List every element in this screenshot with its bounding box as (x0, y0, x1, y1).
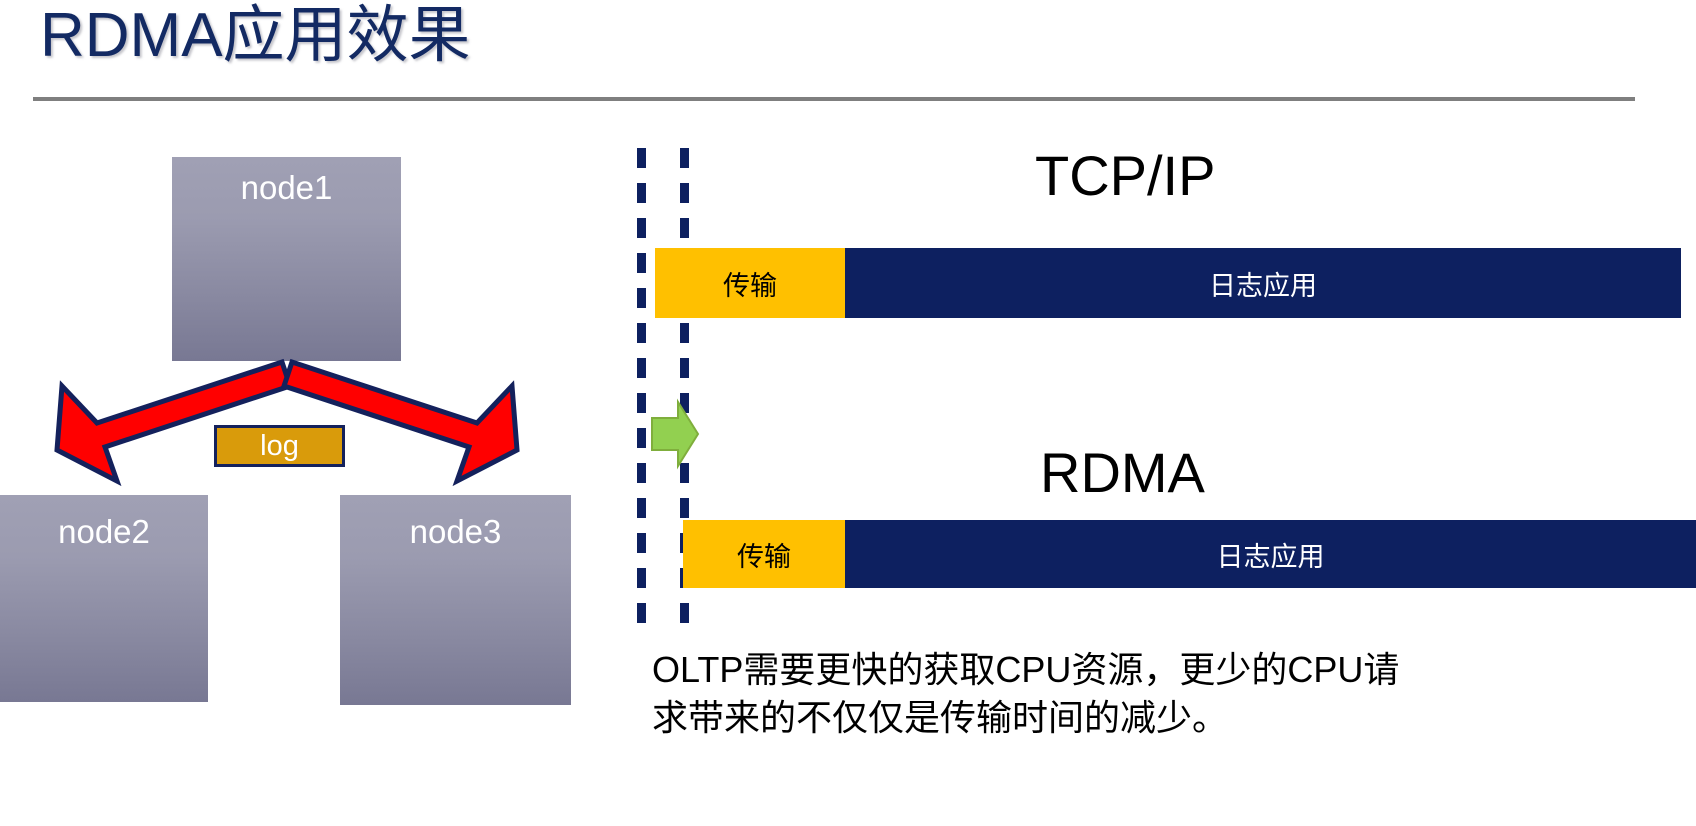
rdma-apply-label: 日志应用 (1217, 535, 1325, 574)
rdma-section-title: RDMA (1040, 440, 1205, 505)
rdma-timeline-bar: 传输 日志应用 (683, 520, 1696, 588)
improvement-arrow-icon (648, 398, 700, 470)
tcp-timeline-bar: 传输 日志应用 (655, 248, 1681, 318)
guideline-start-icon (637, 148, 646, 630)
tcp-transfer-label: 传输 (723, 264, 777, 303)
comparison-panel: TCP/IP 传输 日志应用 RDMA 传输 日志应用 OLTP需要更快的获取C… (0, 0, 1696, 826)
footnote-text: OLTP需要更快的获取CPU资源，更少的CPU请 求带来的不仅仅是传输时间的减少… (652, 646, 1652, 741)
rdma-transfer-segment: 传输 (683, 520, 845, 588)
tcp-apply-segment: 日志应用 (845, 248, 1681, 318)
tcp-apply-label: 日志应用 (1209, 264, 1317, 303)
footnote-line-2: 求带来的不仅仅是传输时间的减少。 (652, 694, 1652, 742)
rdma-apply-segment: 日志应用 (845, 520, 1696, 588)
tcp-section-title: TCP/IP (1035, 143, 1215, 208)
tcp-transfer-segment: 传输 (655, 248, 845, 318)
footnote-line-1: OLTP需要更快的获取CPU资源，更少的CPU请 (652, 646, 1652, 694)
rdma-transfer-label: 传输 (737, 535, 791, 574)
